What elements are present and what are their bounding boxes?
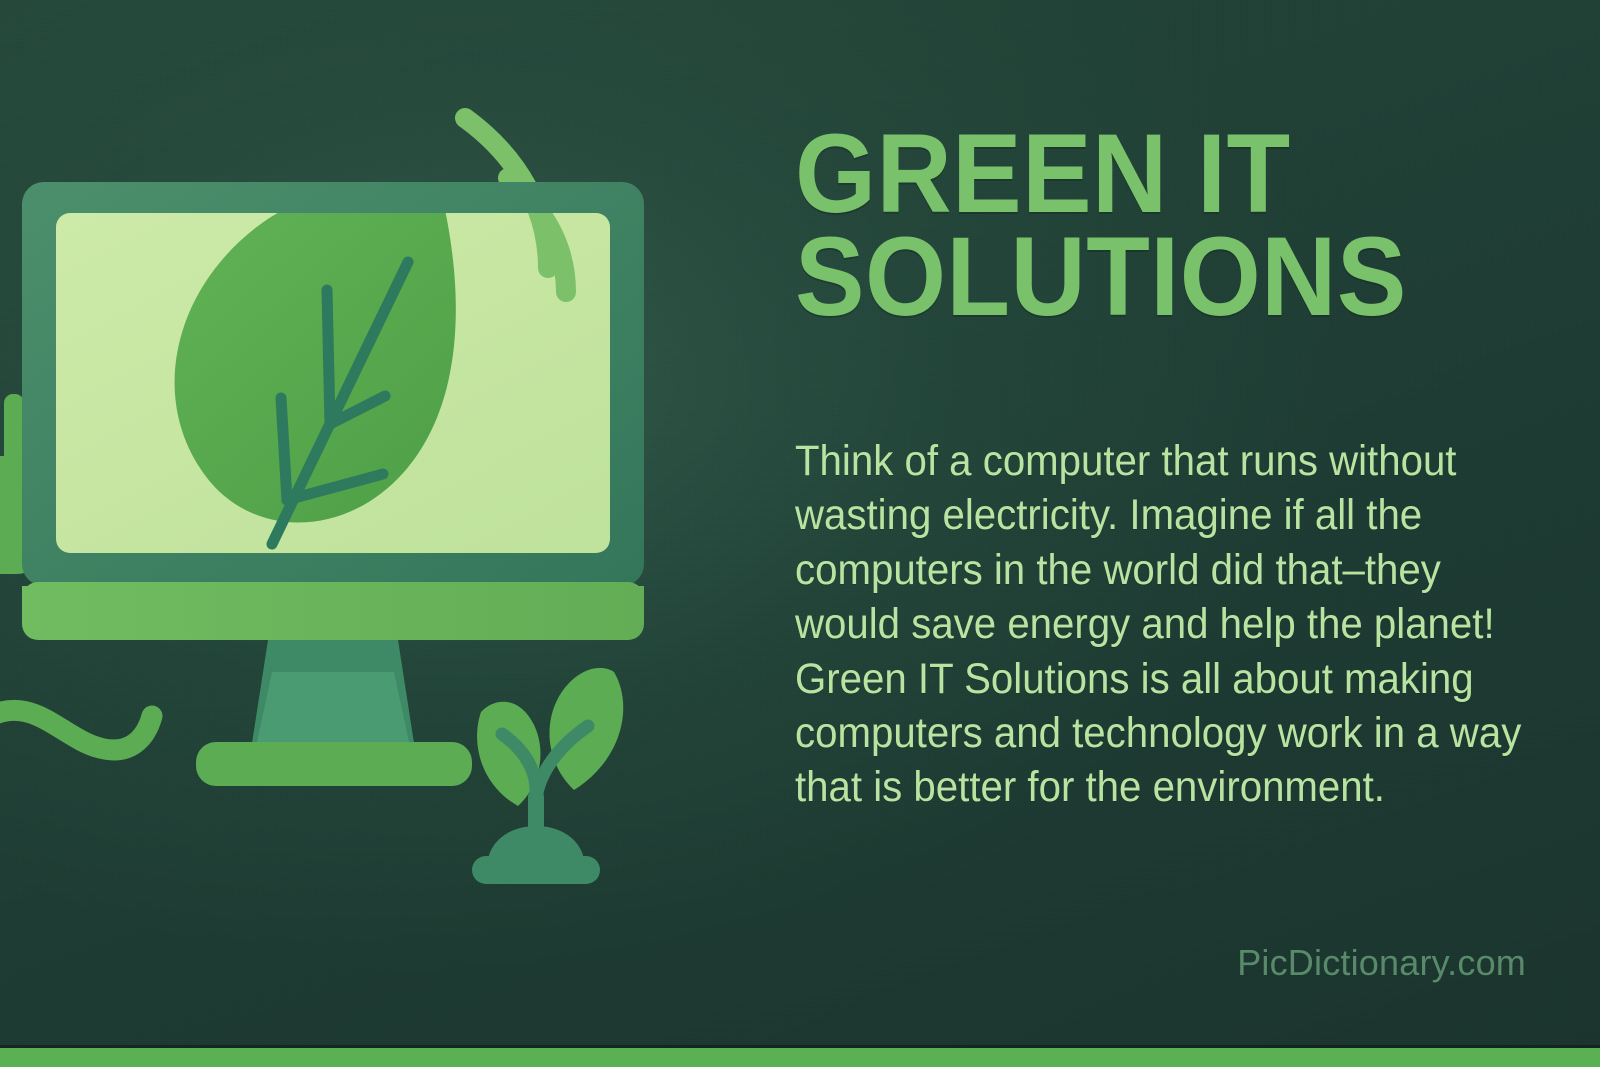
monitor-stand: [250, 640, 416, 756]
monitor-chin-bar: [22, 582, 644, 640]
green-it-illustration: [0, 0, 760, 1010]
text-column: GREEN IT SOLUTIONS Think of a computer t…: [795, 122, 1535, 328]
page-title: GREEN IT SOLUTIONS: [795, 122, 1483, 328]
monitor-base: [196, 742, 472, 786]
bottom-accent-bar: [0, 1048, 1600, 1067]
watermark-label: PicDictionary.com: [1237, 942, 1526, 984]
poster-canvas: GREEN IT SOLUTIONS Think of a computer t…: [0, 0, 1600, 1067]
sprout-icon: [472, 668, 623, 884]
body-paragraph: Think of a computer that runs without wa…: [795, 434, 1543, 815]
power-cable-icon: [0, 710, 152, 750]
